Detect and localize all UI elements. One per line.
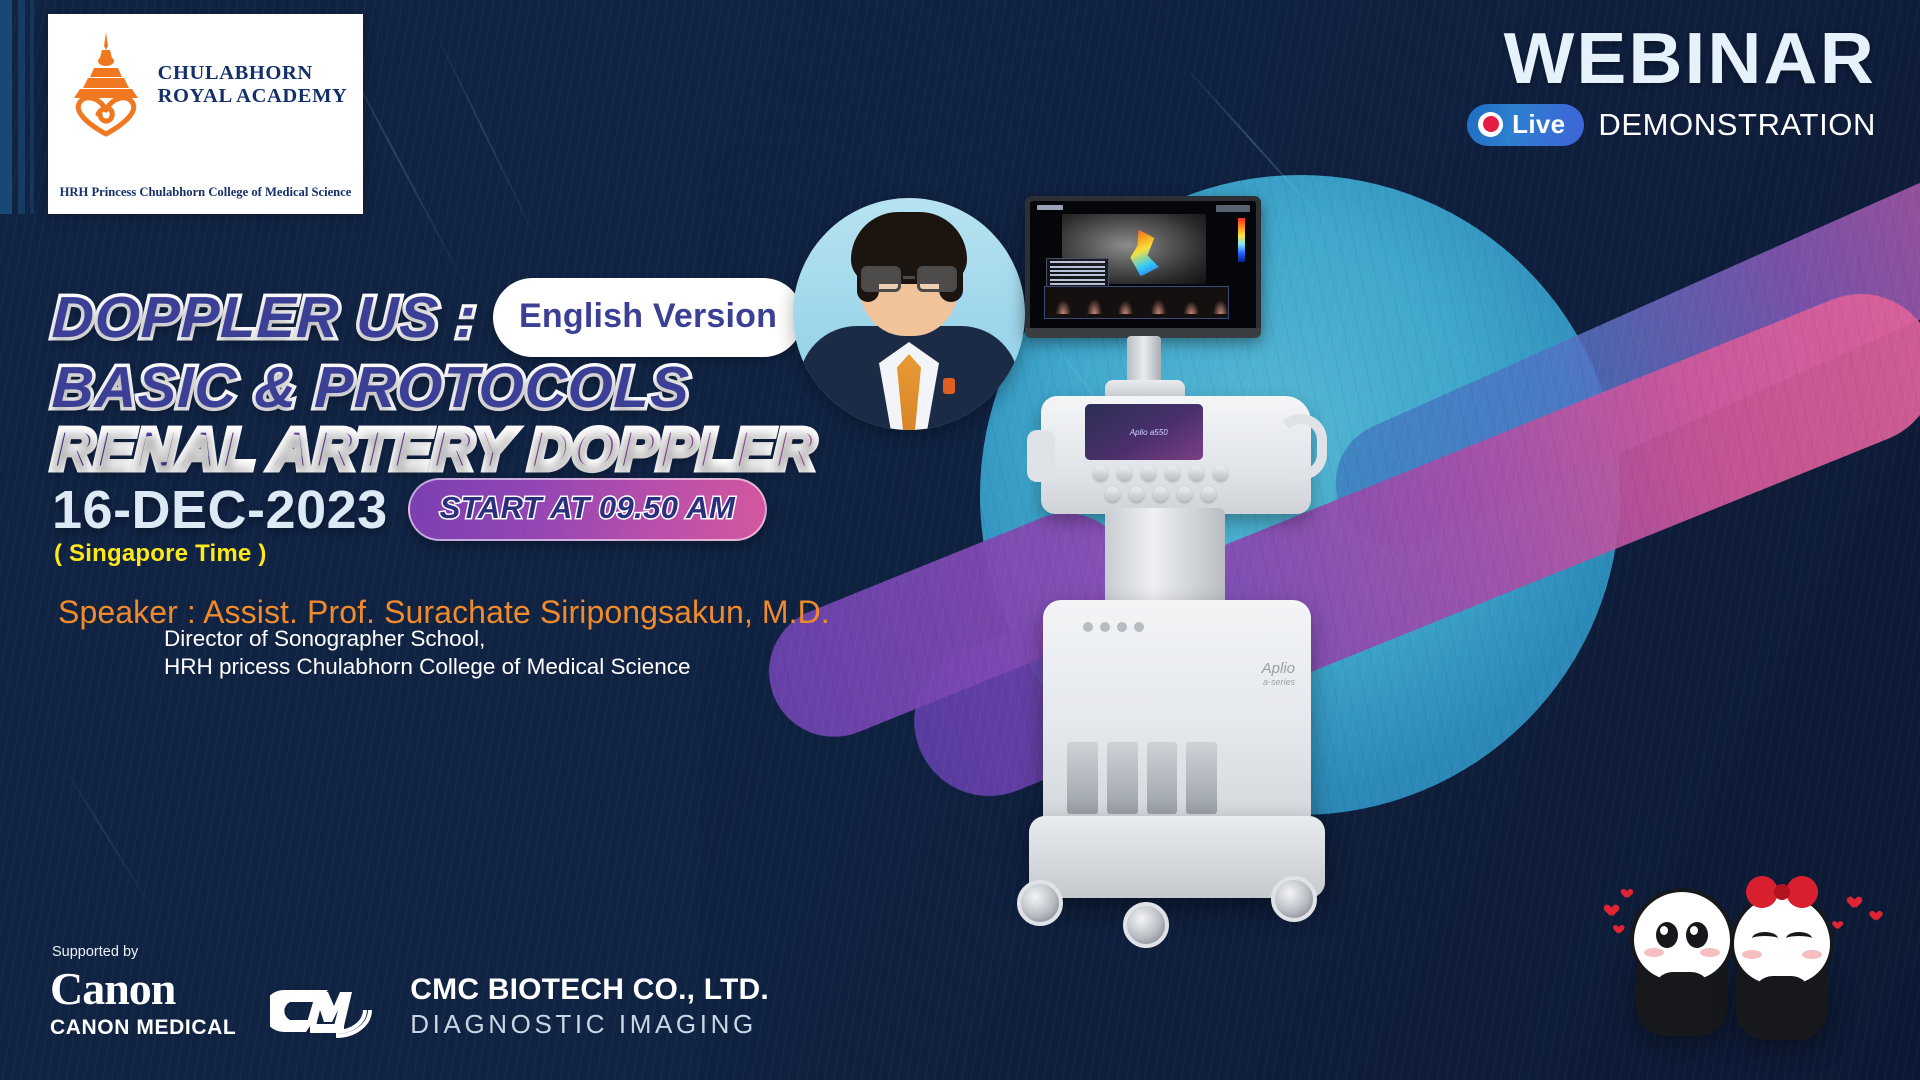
machine-caster-wheel xyxy=(1271,876,1317,922)
console-touch-screen: Aplio a550 xyxy=(1085,404,1203,460)
live-record-icon xyxy=(1478,112,1503,137)
heart-icon xyxy=(1868,907,1879,917)
machine-brand-name: Aplio xyxy=(1262,660,1295,677)
mascot-boy-hands-wai xyxy=(1653,972,1711,1012)
supported-by-label: Supported by xyxy=(52,944,138,960)
heart-icon xyxy=(1845,892,1858,904)
spectral-doppler-waveform xyxy=(1044,286,1229,320)
timezone-label: ( Singapore Time ) xyxy=(54,540,267,568)
start-time-label: START AT 09.50 AM xyxy=(440,490,736,526)
console-brand-label: Aplio a550 xyxy=(1130,428,1168,437)
screen-timestamp-area xyxy=(1216,205,1250,212)
ultrasound-machine-illustration: Aplio a550 Aplio a-series xyxy=(955,190,1515,970)
live-badge: Live xyxy=(1467,104,1584,146)
speaker-role: Director of Sonographer School, xyxy=(164,625,691,653)
machine-brand-series: a-series xyxy=(1262,677,1295,687)
logo-org-name: CHULABHORN ROYAL ACADEMY xyxy=(158,62,348,108)
machine-body: Aplio a-series xyxy=(1043,600,1311,830)
ultrasound-screen xyxy=(1030,201,1256,331)
console-handle xyxy=(1275,414,1327,480)
mascot-characters xyxy=(1596,854,1886,1044)
decor-vertical-bar xyxy=(18,0,25,214)
schedule-row: 16-DEC-2023 START AT 09.50 AM xyxy=(52,478,767,541)
mascot-boy-blush-left xyxy=(1644,948,1664,957)
control-console: Aplio a550 xyxy=(1041,396,1311,514)
logo-lockup: CHULABHORN ROYAL ACADEMY xyxy=(64,30,348,140)
heart-icon xyxy=(1612,922,1622,931)
cmc-tagline: DIAGNOSTIC IMAGING xyxy=(410,1009,769,1040)
machine-brand-label: Aplio a-series xyxy=(1262,660,1295,687)
canon-medical-label: CANON MEDICAL xyxy=(50,1016,236,1040)
mascot-girl-eye-right xyxy=(1786,932,1812,945)
mascot-boy-eye-right xyxy=(1686,922,1708,948)
title-line-3: RENAL ARTERY DOPPLER xyxy=(51,419,818,481)
machine-caster-wheel xyxy=(1017,880,1063,926)
ultrasound-monitor xyxy=(1025,196,1261,336)
logo-subtitle: HRH Princess Chulabhorn College of Medic… xyxy=(60,185,352,200)
mascot-girl xyxy=(1730,892,1846,1034)
machine-indicator-lights xyxy=(1083,622,1193,632)
cmc-company-name: CMC BIOTECH CO., LTD. xyxy=(410,973,769,1007)
webinar-title: WEBINAR xyxy=(1451,24,1876,95)
console-side-panel xyxy=(1027,430,1055,482)
mascot-girl-blush-left xyxy=(1742,950,1762,959)
demonstration-label: DEMONSTRATION xyxy=(1598,107,1876,143)
mascot-boy-eye-left xyxy=(1656,922,1678,948)
measurement-panel xyxy=(1046,258,1109,287)
event-date: 16-DEC-2023 xyxy=(52,479,388,541)
webinar-subrow: Live DEMONSTRATION xyxy=(1467,104,1876,146)
mascot-girl-hands-wai xyxy=(1753,976,1811,1016)
canon-logo: Canon CANON MEDICAL xyxy=(50,966,236,1040)
decor-vertical-bar xyxy=(0,0,12,214)
thai-royal-crest-icon xyxy=(64,30,148,140)
heart-icon xyxy=(1619,885,1629,895)
logo-org-line-2: ROYAL ACADEMY xyxy=(158,85,348,108)
english-version-badge: English Version xyxy=(493,278,803,357)
screen-brand-mark-icon xyxy=(1037,205,1063,210)
mascot-boy-head xyxy=(1630,888,1734,984)
portrait-glasses-icon xyxy=(859,266,959,292)
logo-org-line-1: CHULABHORN xyxy=(158,62,348,85)
start-time-badge: START AT 09.50 AM xyxy=(408,478,768,541)
console-knob-cluster xyxy=(1093,466,1243,504)
mascot-boy xyxy=(1630,888,1746,1038)
webinar-header: WEBINAR Live DEMONSTRATION xyxy=(1467,24,1876,146)
cmc-biotech-wordmark: CMC BIOTECH CO., LTD. DIAGNOSTIC IMAGING xyxy=(410,973,769,1040)
canon-wordmark: Canon xyxy=(50,966,236,1012)
mascot-girl-eye-left xyxy=(1752,932,1778,945)
sponsor-footer: Canon CANON MEDICAL CMC BIOTECH CO., LTD… xyxy=(50,966,769,1040)
institution-logo-card: CHULABHORN ROYAL ACADEMY HRH Princess Ch… xyxy=(48,14,363,214)
title-line-1: DOPPLER US : xyxy=(51,287,478,349)
color-scale-bar xyxy=(1238,218,1245,262)
machine-caster-wheel xyxy=(1123,902,1169,948)
speaker-affiliation-block: Director of Sonographer School, HRH pric… xyxy=(164,625,691,681)
transducer-ports xyxy=(1067,742,1217,814)
cmc-biotech-logo-icon xyxy=(270,980,376,1040)
live-label: Live xyxy=(1512,109,1565,140)
mascot-boy-blush-right xyxy=(1700,948,1720,957)
heart-icon xyxy=(1602,900,1615,912)
ribbon-bow-icon xyxy=(1746,876,1818,908)
speaker-affiliation: HRH pricess Chulabhorn College of Medica… xyxy=(164,653,691,681)
portrait-lapel-pin xyxy=(943,378,955,394)
title-line-2: BASIC & PROTOCOLS xyxy=(51,357,691,419)
decor-vertical-bar xyxy=(30,0,34,214)
mascot-girl-blush-right xyxy=(1802,950,1822,959)
banner-stage: CHULABHORN ROYAL ACADEMY HRH Princess Ch… xyxy=(0,0,1920,1080)
